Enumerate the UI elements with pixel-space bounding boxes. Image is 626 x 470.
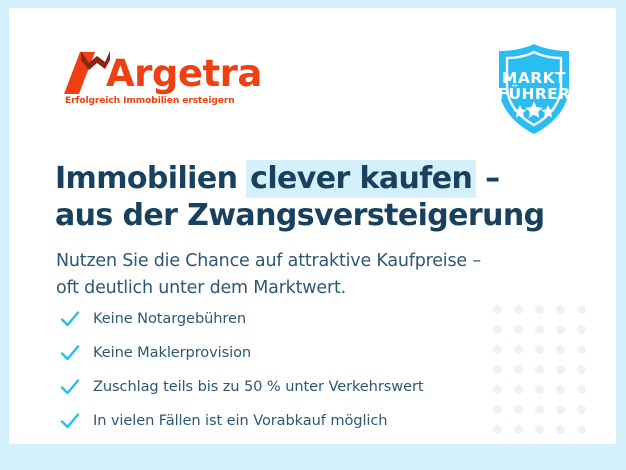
decoration-dot: [577, 365, 586, 374]
decoration-dot: [556, 345, 565, 354]
decoration-dot: [577, 425, 586, 434]
decoration-dot: [577, 345, 586, 354]
decoration-dot: [556, 405, 565, 414]
decoration-dot: [556, 385, 565, 394]
list-item: Keine Maklerprovision: [59, 338, 423, 367]
decoration-dot: [493, 325, 502, 334]
benefits-checklist: Keine Notargebühren Keine Maklerprovisio…: [59, 304, 423, 440]
decoration-dot: [535, 405, 544, 414]
argetra-logo: Argetra Erfolgreich Immobilien ersteiger…: [64, 48, 262, 106]
decoration-dot: [493, 405, 502, 414]
decoration-dot: [556, 425, 565, 434]
check-icon: [59, 410, 81, 432]
decoration-dot: [577, 305, 586, 314]
logo-wordmark: Argetra: [106, 55, 262, 94]
headline-line-1: Immobilien clever kaufen –: [55, 161, 500, 196]
decoration-dot: [535, 345, 544, 354]
logo-mark-row: Argetra: [64, 48, 262, 94]
decoration-dot: [535, 365, 544, 374]
headline-line-2: aus der Zwangsversteigerung: [55, 198, 545, 233]
decoration-dot: [577, 325, 586, 334]
decoration-dot: [535, 325, 544, 334]
decoration-dot: [493, 425, 502, 434]
banner-card: Argetra Erfolgreich Immobilien ersteiger…: [9, 8, 616, 444]
logo-tagline: Erfolgreich Immobilien ersteigern: [65, 96, 262, 106]
decoration-dot: [535, 425, 544, 434]
decoration-dot: [514, 385, 523, 394]
decoration-dot: [535, 385, 544, 394]
decoration-dot: [514, 365, 523, 374]
decoration-dot: [493, 305, 502, 314]
decoration-dot: [514, 405, 523, 414]
list-item-label: Zuschlag teils bis zu 50 % unter Verkehr…: [93, 378, 423, 395]
decoration-dot: [493, 345, 502, 354]
decoration-dot: [535, 305, 544, 314]
headline: Immobilien clever kaufen – aus der Zwang…: [55, 160, 545, 234]
subheadline: Nutzen Sie die Chance auf attraktive Kau…: [56, 248, 481, 302]
argetra-a-mark-icon: [64, 48, 110, 94]
decoration-dot: [577, 405, 586, 414]
decoration-dot: [493, 385, 502, 394]
decoration-dot: [514, 325, 523, 334]
decoration-dot: [556, 305, 565, 314]
headline-prefix: Immobilien: [55, 161, 247, 196]
promo-banner: Argetra Erfolgreich Immobilien ersteiger…: [0, 0, 626, 470]
check-icon: [59, 342, 81, 364]
check-icon: [59, 308, 81, 330]
subheadline-line-1: Nutzen Sie die Chance auf attraktive Kau…: [56, 251, 481, 271]
badge-line-2: FÜHRER: [497, 84, 570, 103]
subheadline-line-2: oft deutlich unter dem Marktwert.: [56, 278, 346, 298]
headline-highlight: clever kaufen: [246, 160, 476, 198]
decoration-dot: [514, 425, 523, 434]
decoration-dot: [556, 365, 565, 374]
headline-suffix: –: [475, 161, 499, 196]
list-item: In vielen Fällen ist ein Vorabkauf mögli…: [59, 406, 423, 435]
decoration-dot: [493, 365, 502, 374]
check-icon: [59, 376, 81, 398]
list-item-label: In vielen Fällen ist ein Vorabkauf mögli…: [93, 412, 387, 429]
dot-grid-decoration: [493, 305, 598, 444]
decoration-dot: [577, 385, 586, 394]
list-item-label: Keine Notargebühren: [93, 310, 246, 327]
list-item: Keine Notargebühren: [59, 304, 423, 333]
markt-fuehrer-badge: MARKT FÜHRER: [487, 42, 581, 136]
decoration-dot: [514, 305, 523, 314]
list-item: Zuschlag teils bis zu 50 % unter Verkehr…: [59, 372, 423, 401]
decoration-dot: [514, 345, 523, 354]
decoration-dot: [556, 325, 565, 334]
list-item-label: Keine Maklerprovision: [93, 344, 251, 361]
